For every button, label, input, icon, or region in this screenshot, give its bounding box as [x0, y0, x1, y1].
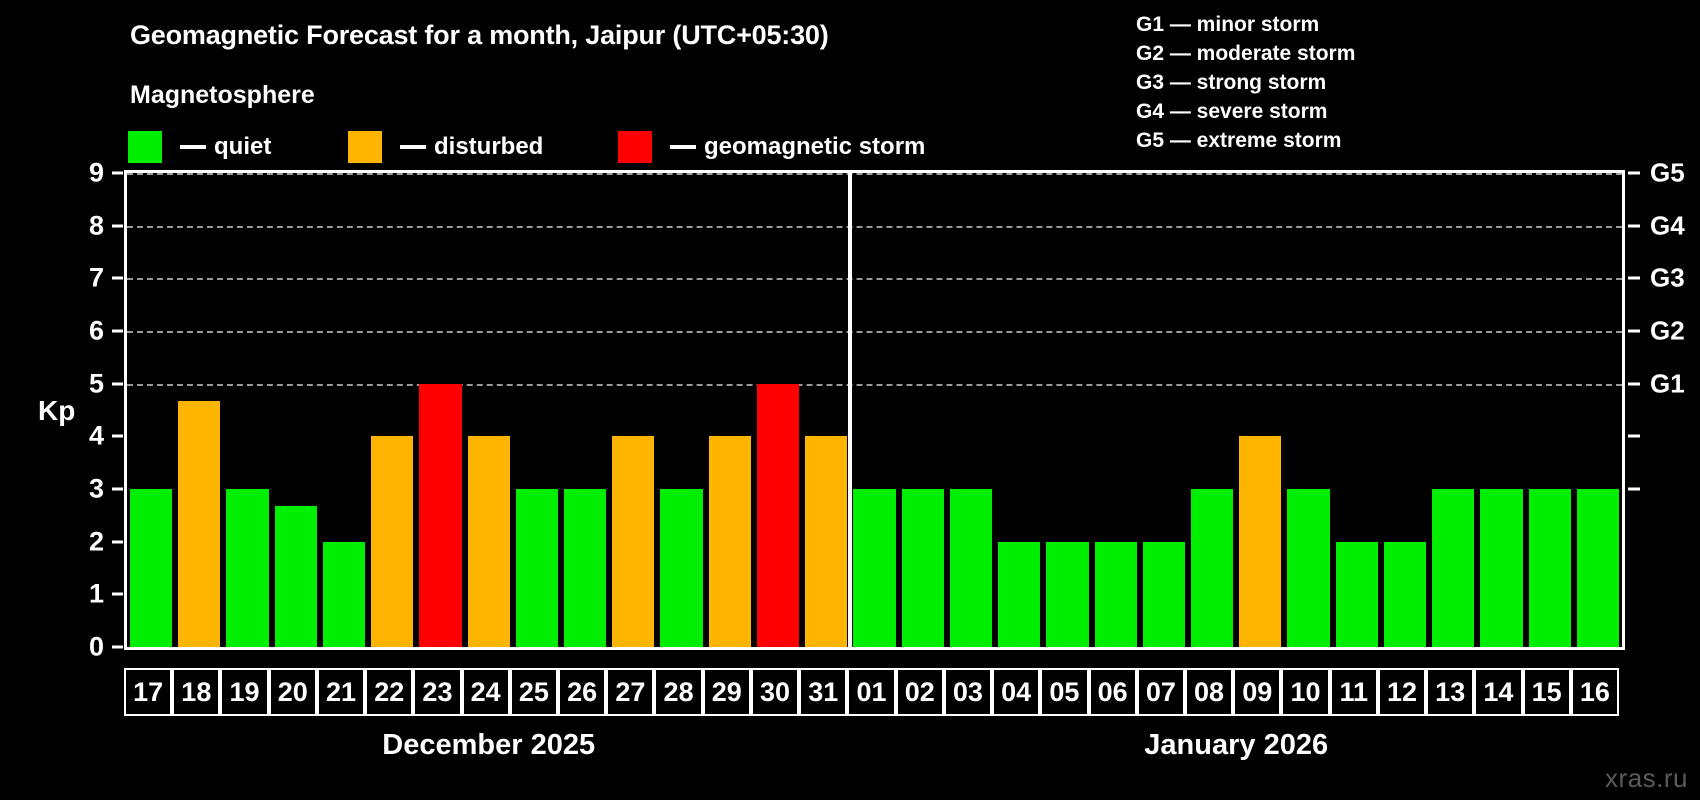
y-tick-label-3: 3 [64, 474, 104, 505]
y-tick-mark [112, 172, 123, 175]
day-label-13: 13 [1426, 668, 1474, 716]
y-tick-label-5: 5 [64, 368, 104, 399]
day-label-22: 22 [365, 668, 413, 716]
y-tick-mark [112, 277, 123, 280]
bar-day-30 [757, 384, 799, 647]
right-tick-label-G4: G4 [1650, 210, 1685, 241]
legend-item-quiet: quiet [128, 128, 271, 166]
bar-day-12 [1384, 542, 1426, 647]
y-tick-label-8: 8 [64, 210, 104, 241]
month-caption-1: December 2025 [382, 729, 595, 762]
magnetosphere-label: Magnetosphere [130, 81, 315, 110]
right-tick-mark [1628, 435, 1640, 438]
watermark: xras.ru [1605, 763, 1688, 794]
month-caption-2: January 2026 [1144, 729, 1328, 762]
y-tick-mark [112, 540, 123, 543]
day-label-18: 18 [172, 668, 220, 716]
legend-dash-icon [180, 145, 206, 149]
day-label-12: 12 [1378, 668, 1426, 716]
bar-day-21 [323, 542, 365, 647]
chart-root: Geomagnetic Forecast for a month, Jaipur… [0, 0, 1700, 800]
right-tick-label-G5: G5 [1650, 158, 1685, 189]
legend-swatch-disturbed-icon [348, 131, 382, 163]
y-tick-label-1: 1 [64, 579, 104, 610]
bar-day-22 [371, 436, 413, 647]
y-tick-label-4: 4 [64, 421, 104, 452]
bar-day-25 [516, 489, 558, 647]
month-divider [848, 170, 852, 650]
day-label-15: 15 [1523, 668, 1571, 716]
right-tick-mark [1628, 382, 1640, 385]
bar-day-10 [1287, 489, 1329, 647]
day-label-21: 21 [317, 668, 365, 716]
right-tick-label-G1: G1 [1650, 368, 1685, 399]
bar-day-03 [950, 489, 992, 647]
legend-dash-icon [670, 145, 696, 149]
bar-day-14 [1480, 489, 1522, 647]
legend-item-geomagnetic-storm: geomagnetic storm [618, 128, 925, 166]
bar-day-04 [998, 542, 1040, 647]
y-tick-mark [112, 330, 123, 333]
bar-day-31 [805, 436, 847, 647]
day-label-16: 16 [1571, 668, 1619, 716]
bar-day-09 [1239, 436, 1281, 647]
day-label-06: 06 [1089, 668, 1137, 716]
gridline-kp-5 [127, 384, 1622, 386]
gridline-kp-7 [127, 278, 1622, 280]
day-label-03: 03 [944, 668, 992, 716]
day-label-26: 26 [558, 668, 606, 716]
day-label-28: 28 [654, 668, 702, 716]
bar-day-18 [178, 401, 220, 647]
gridline-kp-6 [127, 331, 1622, 333]
legend-swatch-quiet-icon [128, 131, 162, 163]
y-tick-mark [112, 488, 123, 491]
y-tick-label-2: 2 [64, 526, 104, 557]
day-label-27: 27 [606, 668, 654, 716]
day-label-07: 07 [1137, 668, 1185, 716]
bar-day-06 [1095, 542, 1137, 647]
g-scale-line-5: G5 — extreme storm [1136, 126, 1355, 155]
day-label-31: 31 [799, 668, 847, 716]
day-label-25: 25 [510, 668, 558, 716]
bar-day-17 [130, 489, 172, 647]
bar-day-26 [564, 489, 606, 647]
y-tick-label-6: 6 [64, 316, 104, 347]
day-label-strip: 1718192021222324252627282930310102030405… [124, 668, 1625, 716]
day-label-19: 19 [220, 668, 268, 716]
bar-day-05 [1046, 542, 1088, 647]
g-scale-legend: G1 — minor stormG2 — moderate stormG3 — … [1136, 10, 1355, 155]
bar-day-29 [709, 436, 751, 647]
day-label-24: 24 [462, 668, 510, 716]
bar-day-11 [1336, 542, 1378, 647]
bar-day-07 [1143, 542, 1185, 647]
g-scale-line-2: G2 — moderate storm [1136, 39, 1355, 68]
bar-day-02 [902, 489, 944, 647]
y-tick-mark [112, 646, 123, 649]
y-tick-mark [112, 224, 123, 227]
right-tick-mark [1628, 224, 1640, 227]
day-label-02: 02 [896, 668, 944, 716]
legend-item-disturbed: disturbed [348, 128, 543, 166]
legend-swatch-geomagnetic-storm-icon [618, 131, 652, 163]
day-label-14: 14 [1474, 668, 1522, 716]
gridline-kp-8 [127, 226, 1622, 228]
right-tick-mark [1628, 172, 1640, 175]
y-tick-label-9: 9 [64, 158, 104, 189]
g-scale-line-1: G1 — minor storm [1136, 10, 1355, 39]
bar-day-23 [419, 384, 461, 647]
bar-day-08 [1191, 489, 1233, 647]
right-tick-label-G3: G3 [1650, 263, 1685, 294]
day-label-17: 17 [124, 668, 172, 716]
day-label-05: 05 [1040, 668, 1088, 716]
bar-day-27 [612, 436, 654, 647]
bar-day-01 [853, 489, 895, 647]
right-tick-mark [1628, 488, 1640, 491]
y-tick-mark [112, 593, 123, 596]
right-tick-mark [1628, 277, 1640, 280]
day-label-10: 10 [1281, 668, 1329, 716]
bar-day-16 [1577, 489, 1619, 647]
legend-label: geomagnetic storm [704, 133, 925, 161]
day-label-09: 09 [1233, 668, 1281, 716]
legend-label: disturbed [434, 133, 543, 161]
y-tick-label-0: 0 [64, 632, 104, 663]
day-label-08: 08 [1185, 668, 1233, 716]
y-tick-mark [112, 435, 123, 438]
right-tick-mark [1628, 330, 1640, 333]
y-tick-mark [112, 382, 123, 385]
day-label-11: 11 [1330, 668, 1378, 716]
bar-day-15 [1529, 489, 1571, 647]
plot-area [124, 170, 1625, 650]
gridline-kp-9 [127, 173, 1622, 175]
bar-day-28 [660, 489, 702, 647]
day-label-04: 04 [992, 668, 1040, 716]
day-label-23: 23 [413, 668, 461, 716]
bar-day-20 [275, 506, 317, 647]
day-label-01: 01 [847, 668, 895, 716]
legend-dash-icon [400, 145, 426, 149]
day-label-30: 30 [751, 668, 799, 716]
g-scale-line-3: G3 — strong storm [1136, 68, 1355, 97]
right-tick-label-G2: G2 [1650, 316, 1685, 347]
bar-day-24 [468, 436, 510, 647]
y-tick-label-7: 7 [64, 263, 104, 294]
day-label-20: 20 [269, 668, 317, 716]
g-scale-line-4: G4 — severe storm [1136, 97, 1355, 126]
day-label-29: 29 [703, 668, 751, 716]
bar-day-13 [1432, 489, 1474, 647]
page-title: Geomagnetic Forecast for a month, Jaipur… [130, 20, 829, 51]
bar-day-19 [226, 489, 268, 647]
legend-label: quiet [214, 133, 271, 161]
